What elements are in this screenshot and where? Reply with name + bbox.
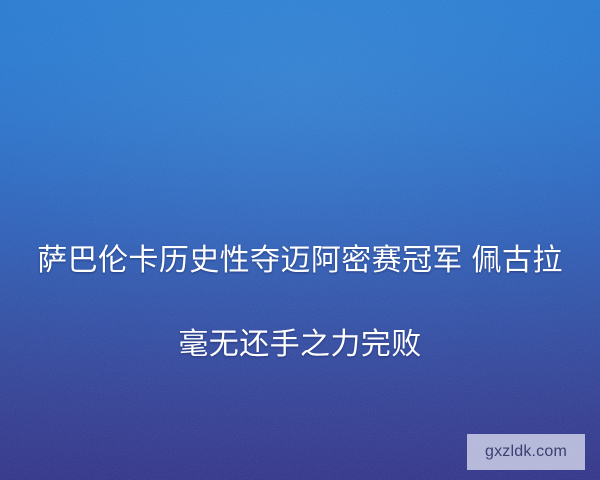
watermark-url-text: gxzldk.com	[485, 444, 567, 460]
headline-line-2: 毫无还手之力完败	[0, 324, 600, 366]
image-canvas: 萨巴伦卡历史性夺迈阿密赛冠军 佩古拉 毫无还手之力完败 gxzldk.com	[0, 0, 600, 480]
headline-line-1: 萨巴伦卡历史性夺迈阿密赛冠军 佩古拉	[0, 240, 600, 282]
watermark-badge: gxzldk.com	[467, 434, 585, 470]
headline-text: 萨巴伦卡历史性夺迈阿密赛冠军 佩古拉 毫无还手之力完败	[0, 198, 600, 408]
